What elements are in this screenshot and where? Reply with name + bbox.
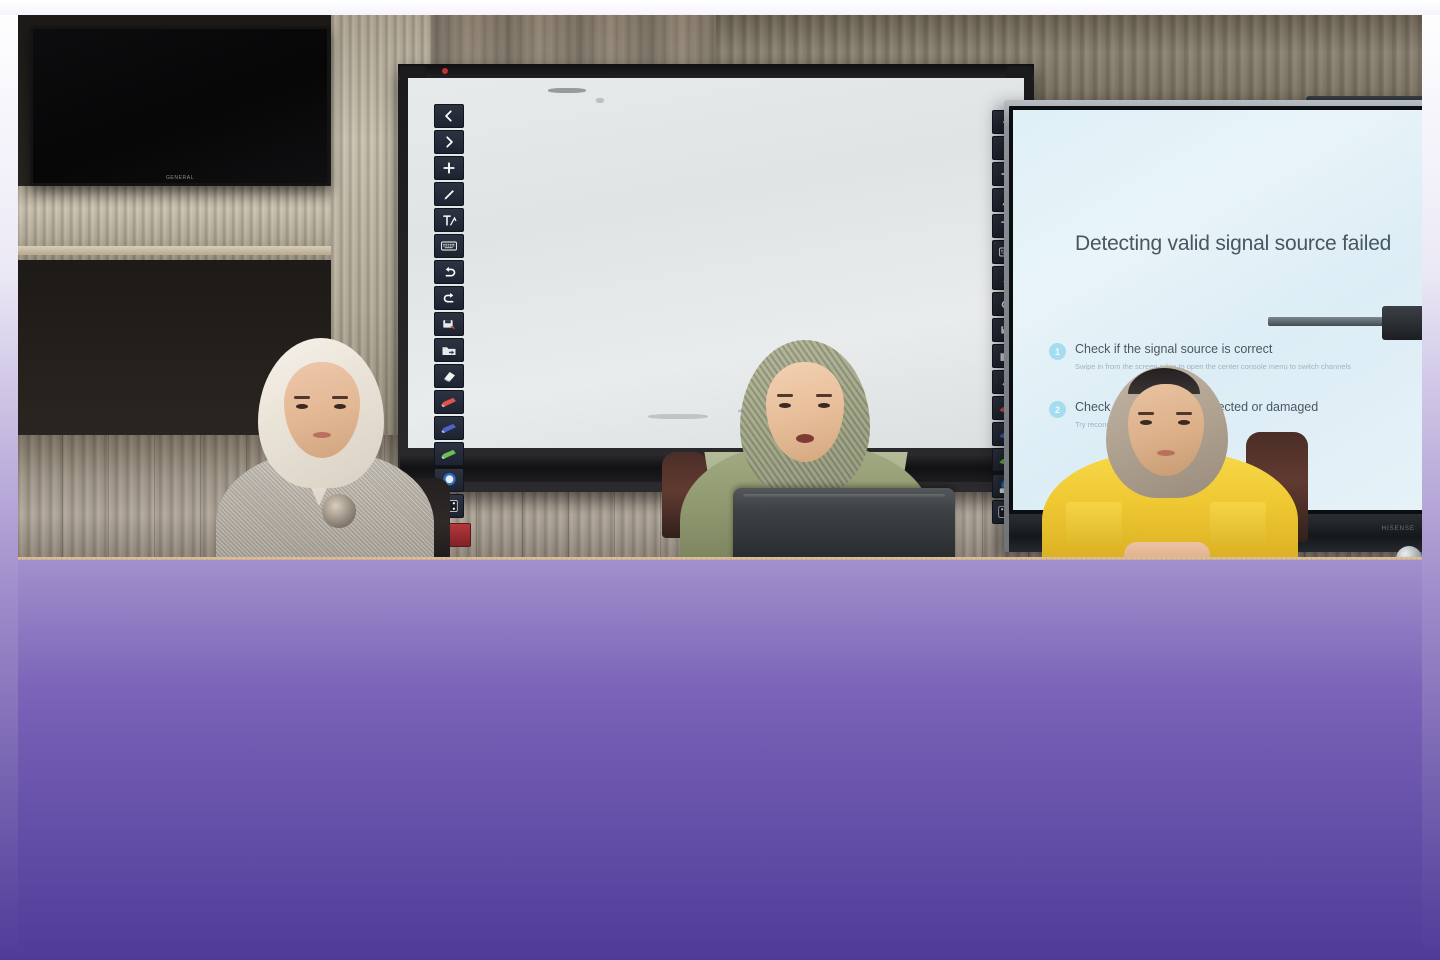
save-icon[interactable] (434, 312, 464, 336)
panelist-right (1032, 366, 1318, 560)
frame-edge-top (0, 0, 1440, 15)
slide-step-1-number: 1 (1049, 343, 1066, 360)
wall-tv-left-brand: GENERAL (166, 175, 194, 181)
laptop-hinge (743, 494, 945, 498)
hdmi-plug-icon (1382, 306, 1424, 340)
slide-step-1-heading: Check if the signal source is correct (1075, 342, 1424, 358)
panelist-left (210, 336, 440, 560)
branding-footer: TIKRIT UNIVERSITY COLLEGE OF SCIENCE كلي… (0, 750, 1440, 960)
wall-ledge (16, 246, 334, 255)
event-photo: GENERAL (16, 14, 1424, 560)
whiteboard-indicator-led (442, 68, 448, 74)
forward-icon[interactable] (434, 130, 464, 154)
panelist-right-pocket-left (1066, 502, 1122, 542)
keyboard-icon[interactable] (434, 234, 464, 258)
text-icon[interactable] (434, 208, 464, 232)
presentation-display-brand: HISENSE (1382, 526, 1415, 532)
panelist-right-pocket-right (1210, 502, 1266, 542)
screenshot-root: GENERAL (0, 0, 1440, 960)
slide-title: Detecting valid signal source failed (1075, 230, 1395, 257)
laptop[interactable] (733, 488, 955, 560)
wall-tv-left-screen (33, 29, 327, 183)
wall-tv-left: GENERAL (30, 26, 330, 186)
panel-desk (16, 557, 1424, 560)
back-icon[interactable] (434, 104, 464, 128)
redo-icon[interactable] (434, 286, 464, 310)
plus-icon[interactable] (434, 156, 464, 180)
pen-icon[interactable] (434, 182, 464, 206)
hdmi-cable (1268, 317, 1390, 326)
undo-icon[interactable] (434, 260, 464, 284)
panelist-left-brooch (322, 494, 356, 528)
